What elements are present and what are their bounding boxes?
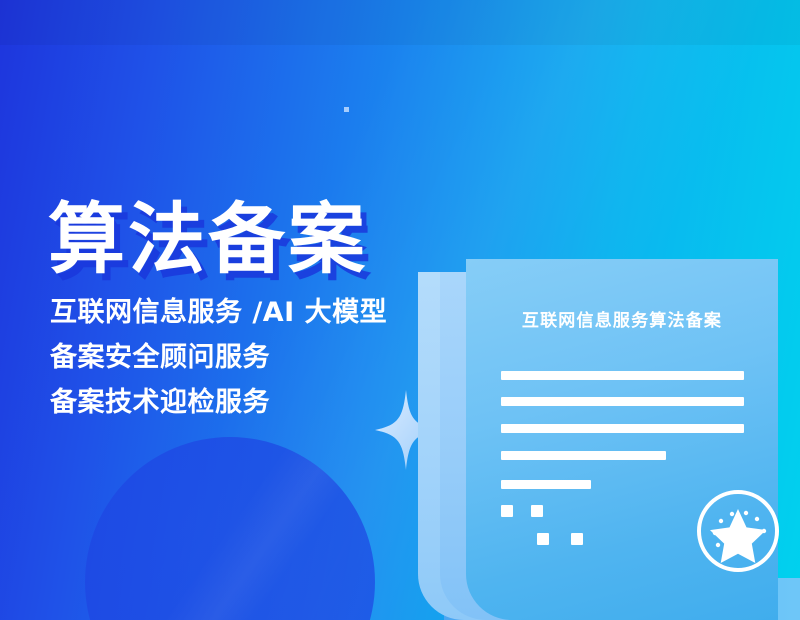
document-text-line — [501, 397, 744, 406]
page-title: 算法备案 — [48, 202, 368, 279]
star-seal-icon — [694, 487, 782, 575]
document-text-line — [501, 480, 591, 489]
document-dot — [537, 533, 549, 545]
tiny-dot — [344, 107, 349, 112]
document-text-line — [501, 451, 666, 460]
subtitle-list: 互联网信息服务 /AI 大模型 备案安全顾问服务 备案技术迎检服务 — [50, 298, 387, 419]
document-card-title: 互联网信息服务算法备案 — [466, 306, 778, 331]
algorithm-filing-banner: 算法备案 互联网信息服务 /AI 大模型 备案安全顾问服务 备案技术迎检服务 互… — [0, 0, 800, 620]
document-card: 互联网信息服务算法备案 — [466, 259, 778, 620]
subtitle-line-2: 备案安全顾问服务 — [50, 343, 387, 373]
background-top-band — [0, 0, 800, 45]
document-card-stack: 互联网信息服务算法备案 — [418, 259, 800, 620]
background-circle-sheen — [85, 437, 375, 620]
document-dot — [501, 505, 513, 517]
document-dot — [531, 505, 543, 517]
subtitle-line-3: 备案技术迎检服务 — [50, 388, 387, 418]
document-text-line — [501, 424, 744, 433]
subtitle-line-1: 互联网信息服务 /AI 大模型 — [50, 298, 387, 328]
document-text-line — [501, 371, 744, 380]
document-dot — [571, 533, 583, 545]
